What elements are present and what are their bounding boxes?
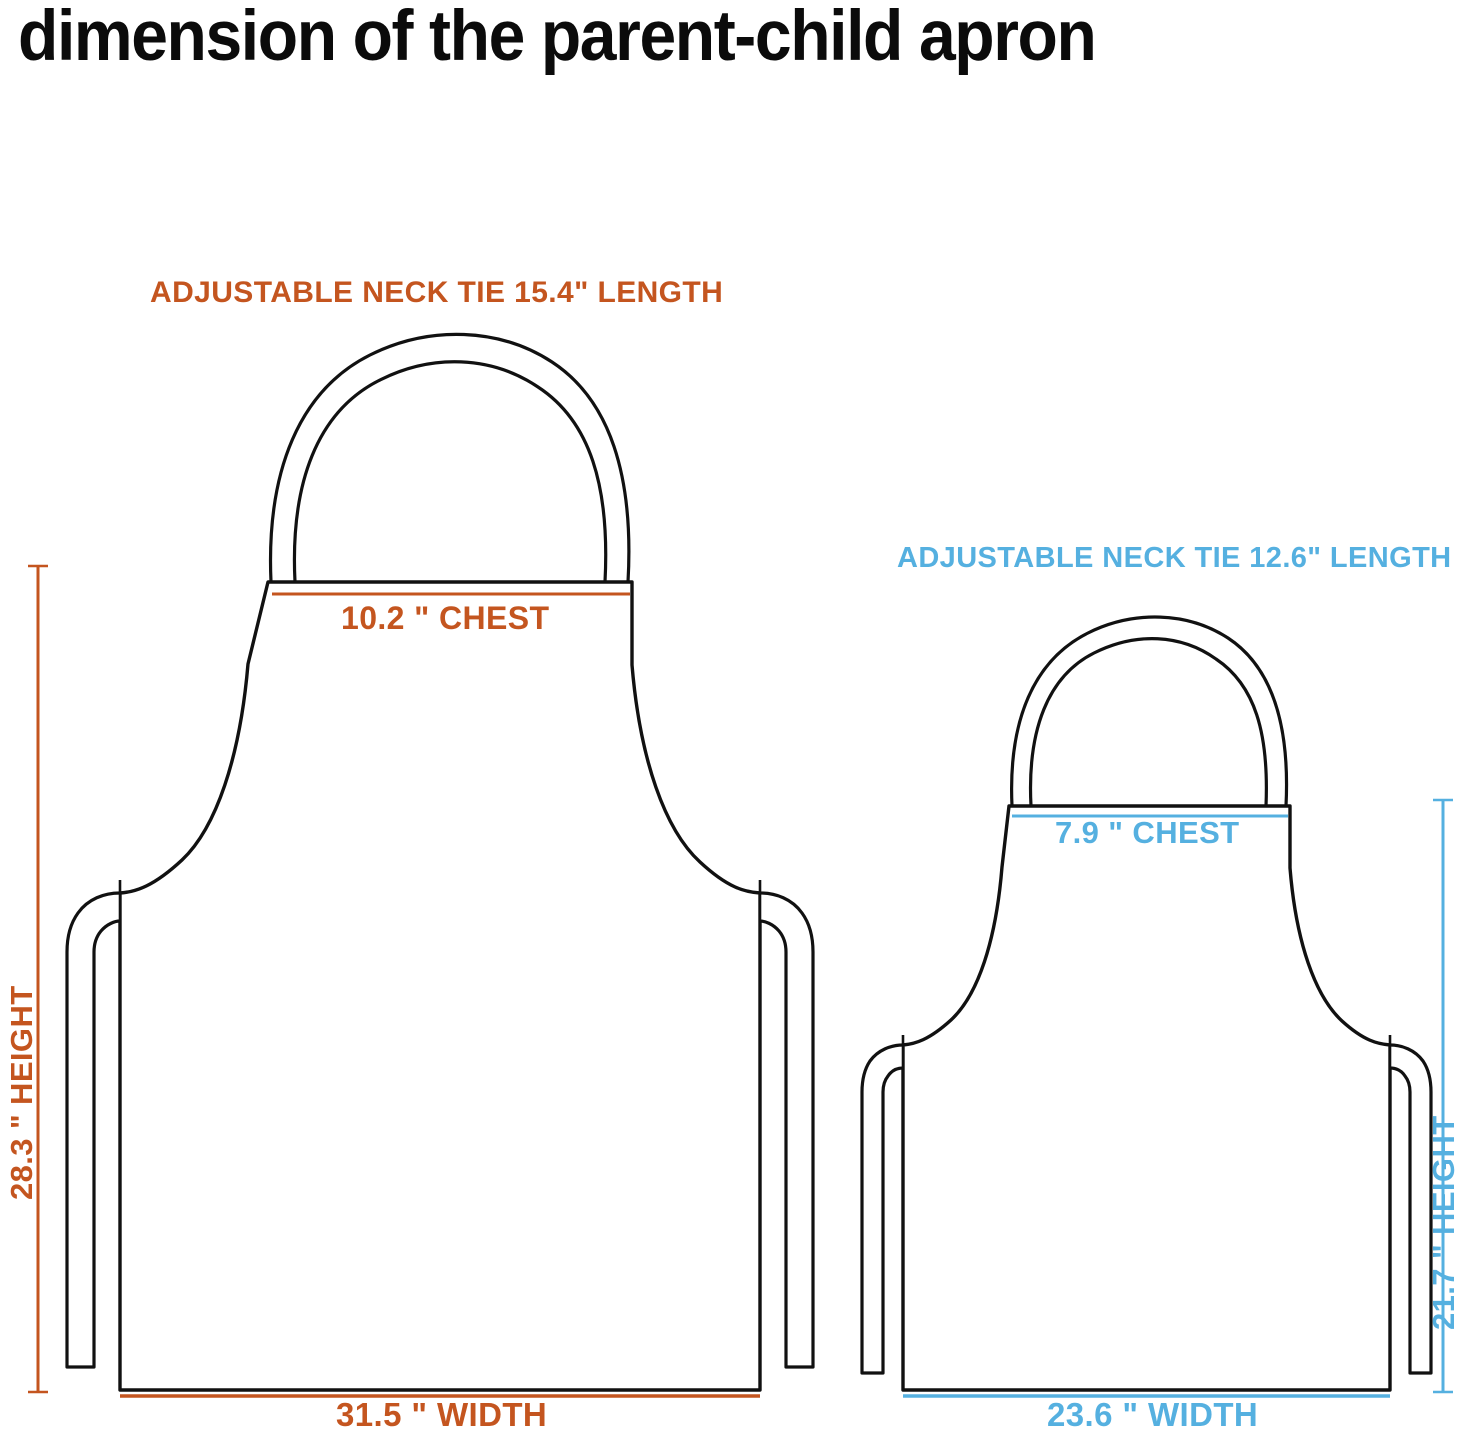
apron-line-art — [0, 0, 1481, 1447]
child-waist-tie-right — [1390, 1045, 1431, 1373]
child-height-label: 21.7 " HEIGHT — [1426, 1115, 1462, 1330]
adult-apron-drawing — [28, 334, 813, 1396]
adult-chest-label: 10.2 " CHEST — [341, 600, 550, 637]
child-chest-label: 7.9 " CHEST — [1055, 815, 1239, 851]
child-neck-tie-label: ADJUSTABLE NECK TIE 12.6" LENGTH — [897, 542, 1452, 575]
child-width-label: 23.6 " WIDTH — [1047, 1396, 1258, 1434]
adult-neck-loop-inner — [294, 362, 605, 582]
apron-dimension-diagram: dimension of the parent-child apron — [0, 0, 1481, 1447]
adult-apron-body — [120, 582, 760, 1390]
child-neck-loop-outer — [1012, 617, 1287, 806]
adult-neck-loop-outer — [271, 334, 629, 582]
child-neck-loop-inner — [1031, 639, 1267, 806]
child-apron-body-outline — [903, 806, 1390, 1390]
adult-neck-tie-label: ADJUSTABLE NECK TIE 15.4" LENGTH — [150, 276, 723, 310]
adult-waist-tie-left — [67, 893, 120, 1367]
child-waist-tie-left — [862, 1045, 903, 1373]
adult-height-label: 28.3 " HEIGHT — [4, 985, 40, 1200]
adult-width-label: 31.5 " WIDTH — [336, 1396, 547, 1434]
child-apron-drawing — [862, 617, 1481, 1396]
adult-waist-tie-right — [760, 893, 813, 1367]
